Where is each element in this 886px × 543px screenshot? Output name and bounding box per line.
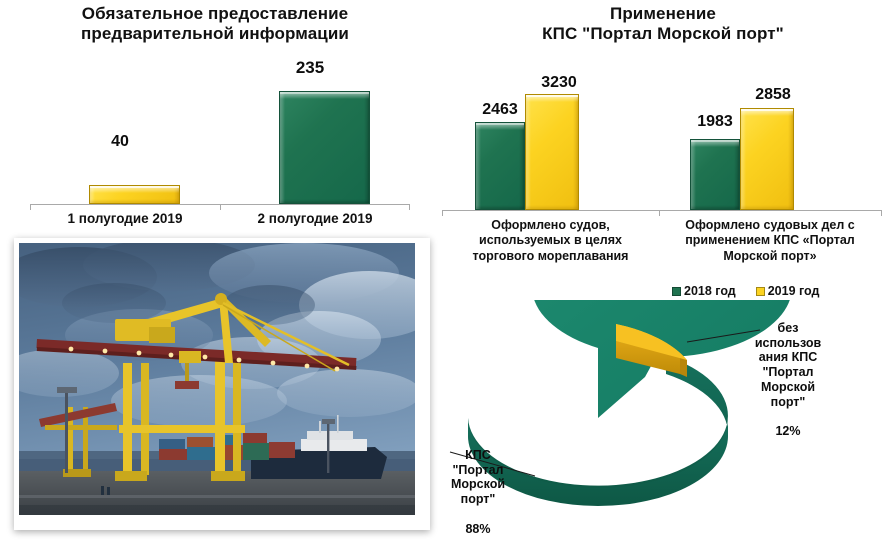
pie-callout-no-kps-label: без использов ания КПС "Портал Морской п… — [755, 321, 821, 409]
seaport-photo-frame — [14, 238, 430, 530]
left-axis-tick-start — [30, 204, 31, 210]
right-bar-group2-2019[interactable] — [740, 108, 794, 210]
right-chart-title-line2: КПС "Портал Морской порт" — [440, 24, 886, 44]
seaport-photo[interactable] — [19, 243, 415, 515]
legend-item-2018[interactable]: 2018 год — [672, 284, 736, 298]
left-chart-plot-area: 40 235 — [10, 56, 420, 204]
left-chart-axis: 1 полугодие 2019 2 полугодие 2019 — [10, 204, 420, 232]
right-chart-title: Применение КПС "Портал Морской порт" — [440, 4, 886, 44]
legend-label-2019: 2019 год — [768, 284, 820, 298]
right-chart-plot-area: 2463 3230 1983 2858 — [440, 60, 886, 210]
right-bar-value-label-g1-2019: 3230 — [514, 74, 604, 92]
pie-callout-kps-percent: 88% — [465, 522, 490, 536]
left-category-label-2: 2 полугодие 2019 — [220, 211, 410, 227]
left-bar-2-polugodie-2019[interactable] — [279, 91, 370, 204]
left-axis-tick-mid — [220, 204, 221, 210]
left-chart-title-line2: предварительной информации — [10, 24, 420, 44]
right-chart-legend: 2018 год 2019 год — [672, 284, 819, 298]
right-bar-group2-2018[interactable] — [690, 139, 740, 210]
legend-swatch-2018-icon — [672, 287, 681, 296]
right-category-label-1: Оформлено судов, используемых в целях то… — [442, 218, 659, 264]
right-chart-axis: Оформлено судов, используемых в целях то… — [440, 210, 886, 284]
left-chart-title: Обязательное предоставление предваритель… — [10, 4, 420, 44]
left-axis-tick-end — [409, 204, 410, 210]
legend-label-2018: 2018 год — [684, 284, 736, 298]
left-chart-title-line1: Обязательное предоставление — [10, 4, 420, 24]
right-bar-group1-2018[interactable] — [475, 122, 525, 210]
left-bar-1-polugodie-2019[interactable] — [89, 185, 180, 204]
pie-slice-yellow-edge — [680, 357, 687, 377]
right-bar-group1-2019[interactable] — [525, 94, 579, 210]
legend-item-2019[interactable]: 2019 год — [756, 284, 820, 298]
right-axis-tick-start — [442, 210, 443, 216]
left-bar-chart: Обязательное предоставление предваритель… — [10, 4, 420, 232]
slide-canvas: Обязательное предоставление предваритель… — [0, 0, 886, 538]
right-bar-value-label-g2-2019: 2858 — [728, 86, 818, 104]
pie-callout-kps-label: КПС "Портал Морской порт" — [451, 448, 505, 506]
pie-callout-no-kps: без использов ания КПС "Портал Морской п… — [742, 306, 834, 439]
legend-swatch-2019-icon — [756, 287, 765, 296]
right-axis-tick-end — [881, 210, 882, 216]
pie-callout-no-kps-percent: 12% — [775, 424, 800, 438]
left-category-label-1: 1 полугодие 2019 — [30, 211, 220, 227]
right-chart-title-line1: Применение — [440, 4, 886, 24]
right-category-label-2: Оформлено судовых дел с применением КПС … — [659, 218, 881, 264]
pie-callout-kps: КПС "Портал Морской порт" 88% — [430, 433, 526, 536]
right-axis-baseline — [442, 210, 882, 211]
pie-chart: без использов ания КПС "Портал Морской п… — [440, 300, 886, 538]
seaport-photo-image — [19, 243, 415, 515]
right-bar-chart: Применение КПС "Портал Морской порт" 246… — [440, 4, 886, 284]
right-axis-tick-mid — [659, 210, 660, 216]
